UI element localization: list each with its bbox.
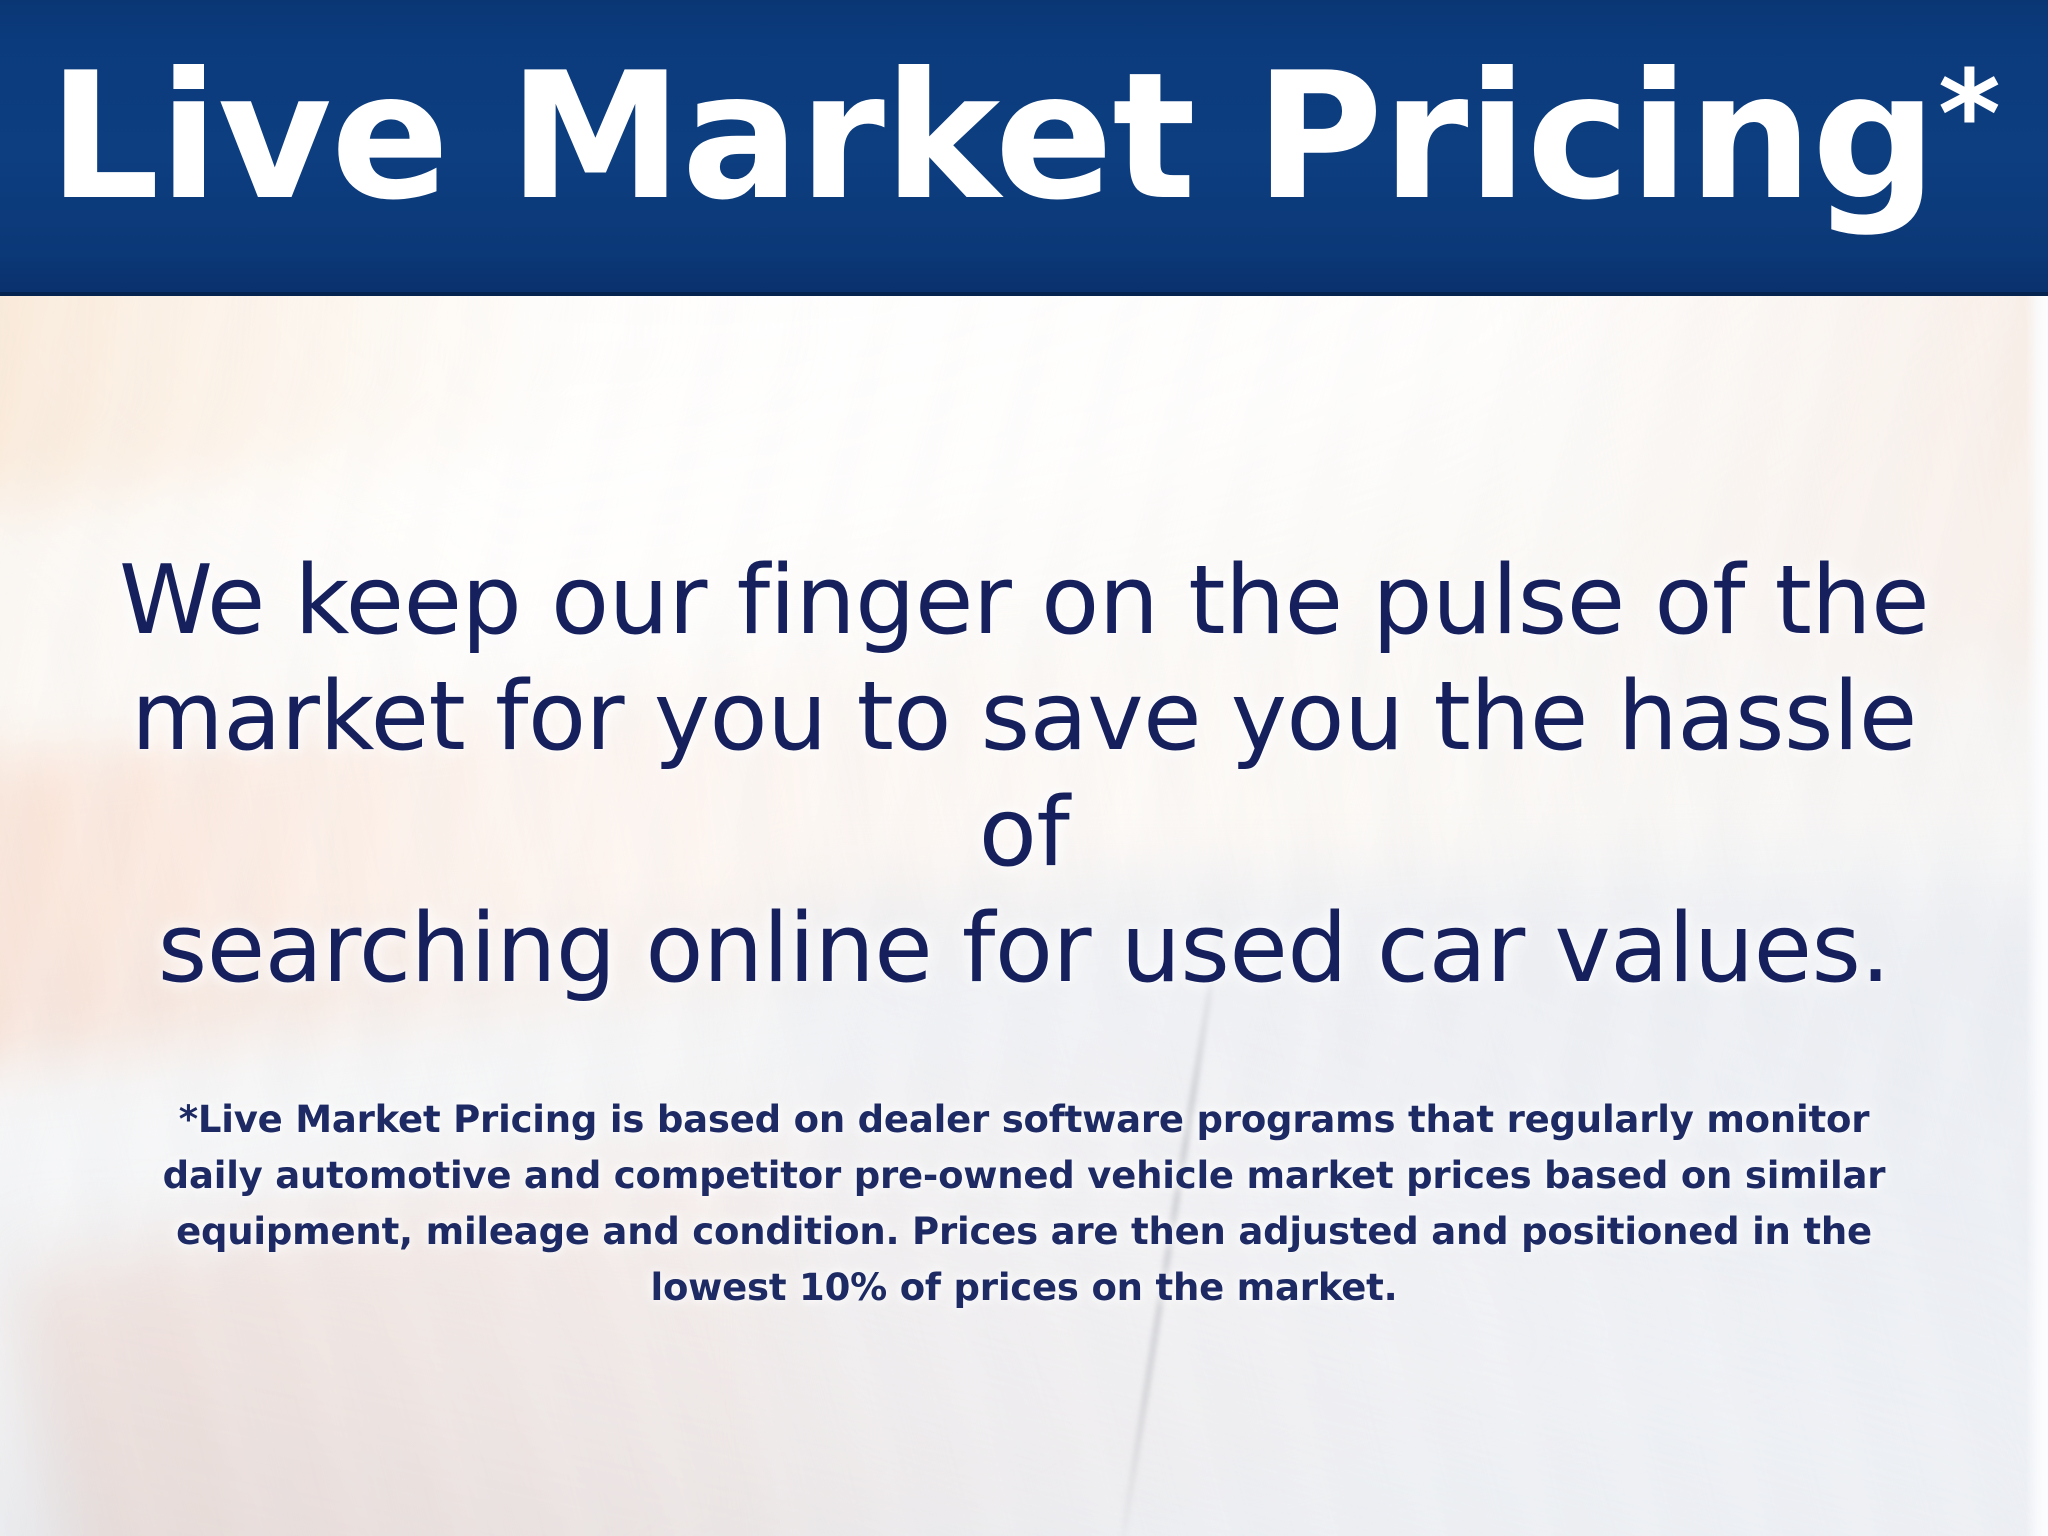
headline-line-3: searching online for used car values. [96, 892, 1952, 1008]
title-banner: Live Market Pricing* [0, 0, 2048, 296]
page-title-text: Live Market Pricing [48, 36, 1936, 239]
disclaimer-line-1: *Live Market Pricing is based on dealer … [104, 1092, 1944, 1148]
disclaimer-line-4: lowest 10% of prices on the market. [104, 1260, 1944, 1316]
footnote-asterisk: * [1938, 46, 2000, 185]
headline-line-1: We keep our finger on the pulse of the [96, 544, 1952, 660]
disclaimer-line-2: daily automotive and competitor pre-owne… [104, 1148, 1944, 1204]
disclaimer-line-3: equipment, mileage and condition. Prices… [104, 1204, 1944, 1260]
headline: We keep our finger on the pulse of the m… [0, 544, 2048, 1008]
headline-line-2: market for you to save you the hassle of [96, 660, 1952, 892]
live-market-pricing-slide: Live Market Pricing* We keep our finger … [0, 0, 2048, 1536]
disclaimer-text: *Live Market Pricing is based on dealer … [104, 1092, 1944, 1317]
page-title: Live Market Pricing* [48, 50, 2000, 225]
slide-content: We keep our finger on the pulse of the m… [0, 296, 2048, 1536]
